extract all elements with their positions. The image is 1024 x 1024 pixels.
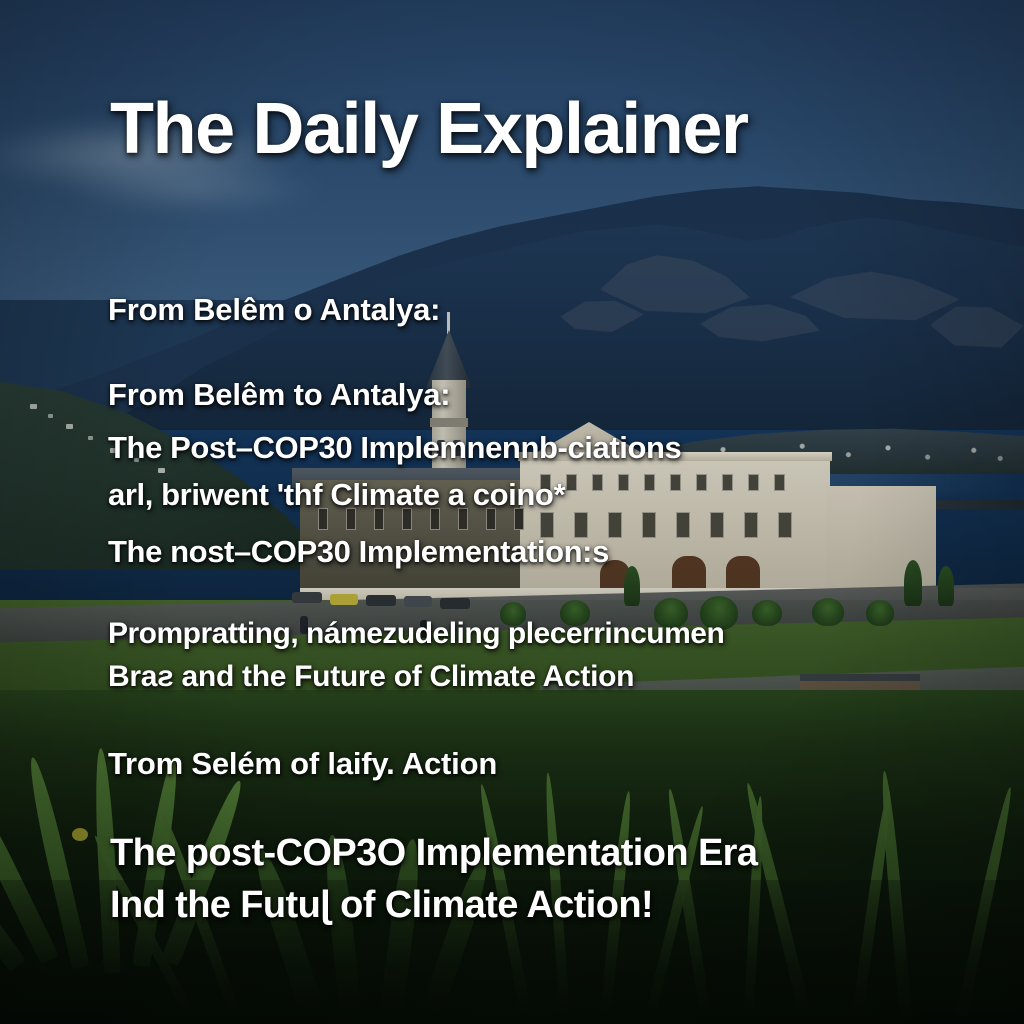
- headline-line-4: arl, briwent 'thf Climate a coino*: [108, 477, 565, 513]
- headline-line-2: From Belêm to Antalya:: [108, 377, 450, 413]
- headline-line-9: The post-COP3O Implementation Era: [110, 832, 757, 875]
- headline-line-10: Ɩnd the Futuɭ of Climate Action!: [110, 884, 653, 927]
- poster-title: The Daily Explainer: [110, 88, 748, 170]
- text-overlay: The Daily Explainer From Belêm o Antalya…: [0, 0, 1024, 1024]
- headline-line-8: Trom Selém of laify. Action: [108, 746, 497, 782]
- headline-line-5: The nost–COP30 Implementation:s: [108, 534, 609, 570]
- poster-image: The Daily Explainer From Belêm o Antalya…: [0, 0, 1024, 1024]
- headline-line-6: Prompratting, námezudeling plecerrincume…: [108, 617, 724, 651]
- headline-line-3: The Post–COP30 Implemnennb-ciations: [108, 430, 681, 466]
- headline-line-7: Braƨ and the Future of Climate Action: [108, 660, 634, 694]
- headline-line-1: From Belêm o Antalya:: [108, 292, 440, 328]
